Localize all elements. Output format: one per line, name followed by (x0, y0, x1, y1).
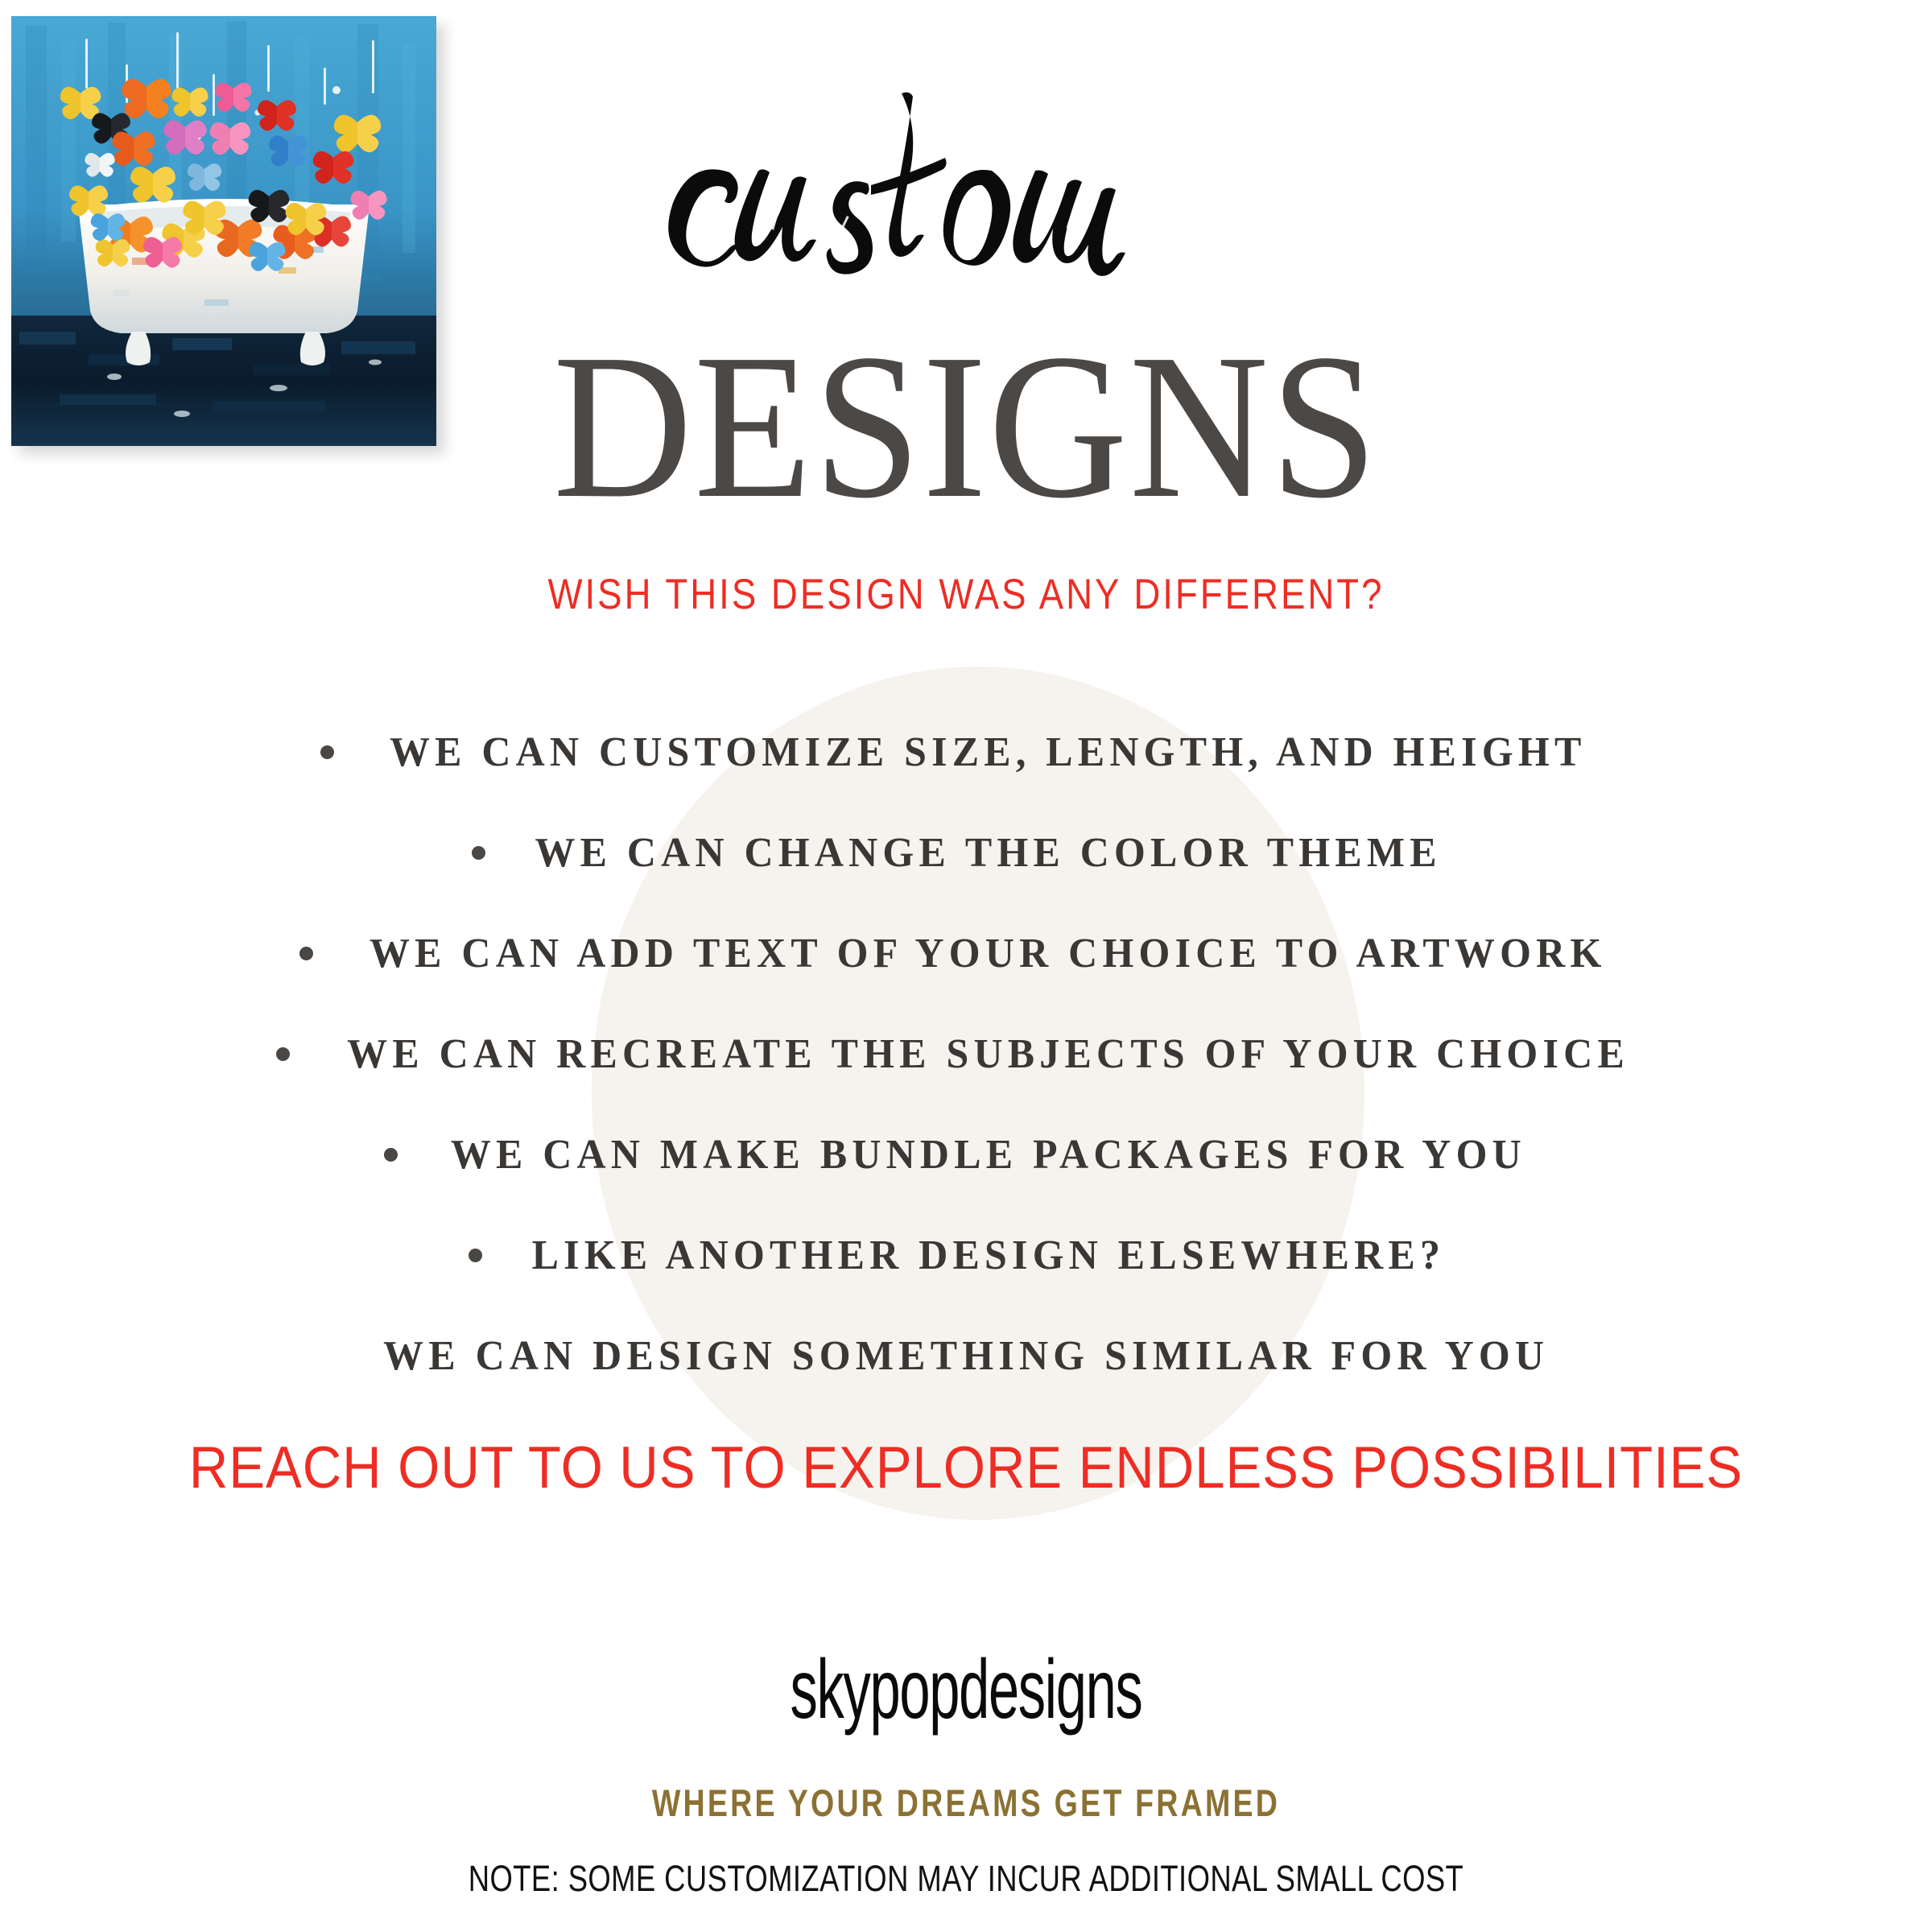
list-item-label: WE CAN MAKE BUNDLE PACKAGES FOR YOU (450, 1131, 1525, 1179)
artwork-thumbnail[interactable] (11, 16, 436, 446)
list-item: WE CAN ADD TEXT OF YOUR CHOICE TO ARTWOR… (0, 903, 1932, 1004)
list-item-label: WE CAN RECREATE THE SUBJECTS OF YOUR CHO… (347, 1030, 1629, 1078)
bullet-dot-icon (469, 1249, 482, 1262)
call-to-action-text: REACH OUT TO US TO EXPLORE ENDLESS POSSI… (77, 1435, 1855, 1501)
footer-note: NOTE: SOME CUSTOMIZATION MAY INCUR ADDIT… (184, 1858, 1748, 1900)
brand-logo-text: skypopdesigns (328, 1644, 1604, 1736)
list-item-label: WE CAN CUSTOMIZE SIZE, LENGTH, AND HEIGH… (390, 729, 1587, 776)
bullet-dot-icon (384, 1148, 398, 1162)
list-item-label: LIKE ANOTHER DESIGN ELSEWHERE? (531, 1232, 1445, 1279)
list-item-continuation: WE CAN DESIGN SOMETHING SIMILAR FOR YOU (0, 1306, 1932, 1406)
subtitle-question: WISH THIS DESIGN WAS ANY DIFFERENT? (135, 570, 1797, 619)
list-item-label: WE CAN CHANGE THE COLOR THEME (535, 829, 1441, 877)
butterfly-bathtub-painting-icon (11, 16, 436, 446)
list-item: WE CAN MAKE BUNDLE PACKAGES FOR YOU (0, 1104, 1932, 1205)
brand-tagline: WHERE YOUR DREAMS GET FRAMED (193, 1781, 1739, 1825)
list-item-label: WE CAN ADD TEXT OF YOUR CHOICE TO ARTWOR… (369, 930, 1607, 977)
bullet-dot-icon (299, 947, 313, 960)
bullet-dot-icon (472, 846, 485, 860)
list-item: WE CAN RECREATE THE SUBJECTS OF YOUR CHO… (0, 1004, 1932, 1104)
custom-brush-script-text (660, 87, 1272, 288)
list-item-label: WE CAN DESIGN SOMETHING SIMILAR FOR YOU (383, 1332, 1549, 1380)
capabilities-list: WE CAN CUSTOMIZE SIZE, LENGTH, AND HEIGH… (0, 702, 1932, 1406)
bullet-dot-icon (320, 745, 334, 759)
list-item: WE CAN CUSTOMIZE SIZE, LENGTH, AND HEIGH… (0, 702, 1932, 803)
bullet-dot-icon (276, 1047, 290, 1061)
list-item: LIKE ANOTHER DESIGN ELSEWHERE? (0, 1205, 1932, 1306)
promo-poster: DESIGNS WISH THIS DESIGN WAS ANY DIFFERE… (0, 0, 1932, 1932)
list-item: WE CAN CHANGE THE COLOR THEME (0, 803, 1932, 903)
